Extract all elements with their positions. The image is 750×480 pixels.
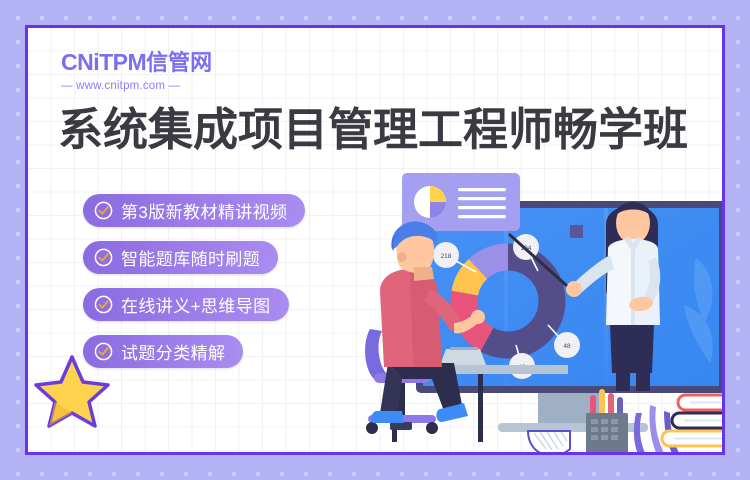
student-shoe	[371, 411, 404, 423]
laptop	[440, 349, 486, 365]
check-circle-icon	[94, 201, 113, 220]
book	[662, 431, 725, 446]
logo-text-en: CNiTPM	[61, 49, 146, 75]
desk-leg	[478, 374, 483, 442]
online-classroom-illustration: 218 104 48 40	[358, 173, 725, 455]
promo-card: CNiTPM信管网 — www.cnitpm.com — 系统集成项目管理工程师…	[25, 25, 725, 455]
books-stack	[662, 395, 725, 446]
book	[678, 395, 725, 410]
donut-label-value: 218	[441, 253, 452, 260]
brand-logo[interactable]: CNiTPM信管网 — www.cnitpm.com —	[61, 51, 212, 92]
feature-label: 第3版新教材精讲视频	[121, 198, 287, 223]
feature-pill-1[interactable]: 第3版新教材精讲视频	[83, 194, 305, 227]
page-title: 系统集成项目管理工程师畅学班	[58, 104, 688, 156]
teacher-skirt	[610, 323, 654, 373]
student-hand	[471, 310, 485, 324]
logo-wordmark: CNiTPM信管网	[61, 51, 212, 74]
pen	[599, 389, 605, 417]
chair-wheel	[366, 422, 378, 434]
open-notebook	[528, 431, 570, 455]
pen-holder	[586, 389, 628, 455]
feature-label: 试题分类精解	[121, 339, 225, 364]
feature-list: 第3版新教材精讲视频 智能题库随时刷题 在线讲义+思维导图 试题分类精解	[83, 194, 305, 382]
donut-label-bubble: 48	[554, 332, 580, 358]
donut-label-value: 48	[563, 343, 571, 350]
logo-text-cn: 信管网	[146, 50, 212, 75]
check-circle-icon	[94, 295, 113, 314]
feature-label: 智能题库随时刷题	[121, 245, 260, 270]
feature-label: 在线讲义+思维导图	[121, 292, 271, 317]
donut-label-bubble: 218	[433, 242, 459, 268]
star-icon	[34, 354, 110, 428]
feature-pill-2[interactable]: 智能题库随时刷题	[83, 241, 278, 274]
check-circle-icon	[94, 248, 113, 267]
book	[672, 413, 725, 428]
logo-website-url: — www.cnitpm.com —	[61, 80, 212, 92]
feature-pill-3[interactable]: 在线讲义+思维导图	[83, 288, 289, 321]
screen-panel-divider	[504, 208, 508, 386]
teacher-hand	[566, 281, 582, 297]
chair-wheel	[426, 422, 438, 434]
